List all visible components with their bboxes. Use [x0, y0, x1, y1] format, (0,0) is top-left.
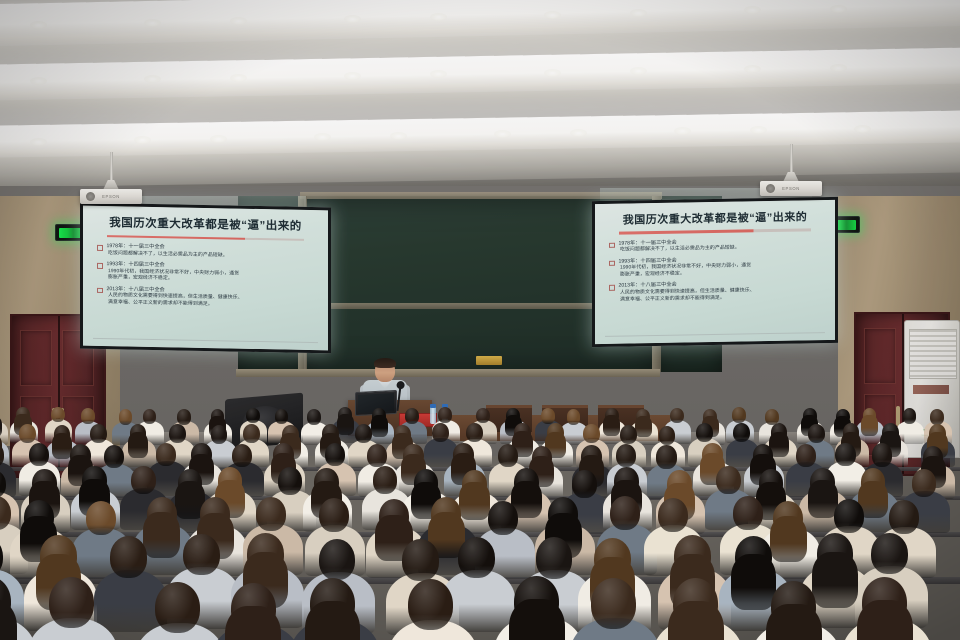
audience-member-head — [871, 533, 908, 574]
chalk-ledge — [236, 369, 660, 377]
audience-member-head — [476, 408, 490, 424]
audience-member-head — [49, 577, 94, 628]
audience-member-head — [110, 536, 147, 577]
audience-member-head — [610, 496, 640, 530]
audience-member-head — [232, 444, 252, 467]
slide-bullet: 2013年：十八届三中全会 人民的物质文化需要得到快速提高，但生活质量、健康快乐… — [97, 287, 314, 311]
audience-member-hair — [305, 601, 361, 640]
audience-member-head — [278, 467, 303, 495]
slide-title: 我国历次重大改革都是被“逼”出来的 — [603, 211, 827, 227]
slide-title-rule — [107, 235, 304, 241]
slide-bullet: 1978年：十一届三中全会 吃饭问题都解决不了，以生活必需品为主的产品短缺。 — [609, 238, 821, 255]
audience-member-head — [243, 424, 260, 443]
audience-member-head — [498, 444, 518, 467]
square-bullet-icon — [97, 263, 103, 269]
square-bullet-icon — [609, 242, 615, 248]
audience-member-hair — [337, 414, 354, 435]
blackboard-top-rail — [300, 192, 662, 199]
audience-member-hair — [731, 554, 776, 610]
audience-member-head — [319, 498, 349, 532]
audience-member-head — [659, 426, 676, 445]
ceiling-downlight — [30, 138, 47, 146]
audience-member-head — [572, 470, 597, 498]
ceiling-downlight — [630, 9, 647, 17]
projector-pole — [110, 152, 113, 182]
audience-member-head — [408, 579, 453, 630]
audience-member-hair — [812, 552, 857, 608]
ceiling-downlight — [390, 132, 407, 140]
audience-member-head — [834, 499, 864, 533]
audience-member-head — [438, 407, 452, 423]
bullet-head-text: 1978年：十一届三中全会 — [107, 244, 165, 251]
audience-member-head — [155, 582, 200, 633]
audience-member-head — [835, 443, 855, 466]
ceiling-downlight — [830, 5, 847, 13]
projection-screen-left: 我国历次重大改革都是被“逼”出来的 1978年：十一届三中全会 吃饭问题都解决不… — [80, 203, 331, 354]
lecture-hall-photo: 我国历次重大改革都是被“逼”出来的 1978年：十一届三中全会 吃饭问题都解决不… — [0, 0, 960, 640]
audience-member-head — [567, 409, 581, 425]
ceiling — [0, 0, 960, 200]
audience-member-head — [696, 423, 713, 442]
audience-member-head — [51, 407, 65, 423]
audience-member-head — [367, 444, 387, 467]
audience-member-head — [86, 501, 116, 535]
ceiling-downlight — [144, 19, 161, 27]
audience-member-head — [373, 466, 398, 494]
audience-member-head — [466, 423, 483, 442]
audience-member-head — [119, 409, 133, 425]
audience-member-hair — [509, 599, 565, 640]
slide-bullet: 1993年：十四届三中全会 1990年代初，我国经济状况非常不好，中央财力弱小，… — [97, 262, 314, 286]
ceiling-downlight — [570, 129, 587, 137]
audience-member-head — [733, 423, 750, 442]
square-bullet-icon — [97, 245, 103, 251]
slide-bottom-rule — [93, 338, 318, 343]
audience-member-hair — [766, 604, 822, 640]
audience-member-head — [325, 443, 345, 466]
slide-bullet: 2013年：十八届三中全会 人民的物质文化需要得到快速提高，但生活质量、健康快乐… — [609, 281, 821, 304]
audience — [0, 404, 960, 640]
audience-member-head — [796, 444, 816, 467]
projector-pole — [790, 144, 793, 174]
slide-body: 1978年：十一届三中全会 吃饭问题都解决不了，以生活必需品为主的产品短缺。 1… — [603, 238, 827, 304]
slide-bullet: 1993年：十四届三中全会 1990年代初，我国经济状况非常不好，中央财力弱小，… — [609, 256, 821, 279]
audience-member-head — [903, 408, 917, 424]
slide-bullet: 1978年：十一届三中全会 吃饭问题都解决不了，以生活必需品为主的产品短缺。 — [97, 244, 314, 261]
audience-member-head — [355, 424, 372, 443]
slide-title: 我国历次重大改革都是被“逼”出来的 — [91, 217, 320, 234]
audience-member-hair — [128, 432, 149, 458]
slide-bottom-rule — [605, 332, 825, 337]
audience-member-head — [183, 534, 220, 575]
slide-body: 1978年：十一届三中全会 吃饭问题都解决不了，以生活必需品为主的产品短缺。 1… — [91, 244, 320, 311]
ceiling-downlight — [230, 74, 247, 82]
audience-member-head — [591, 578, 636, 629]
audience-member-head — [656, 445, 676, 468]
chalk-tray-box — [476, 356, 502, 365]
audience-member-hair — [371, 415, 388, 436]
audience-member-head — [177, 409, 191, 425]
audience-member-head — [583, 424, 600, 443]
audience-member-hair — [668, 601, 724, 640]
slide-title-rule — [619, 228, 811, 234]
ceiling-downlight — [134, 136, 151, 144]
audience-member-hair — [603, 415, 620, 436]
audience-member-head — [670, 408, 684, 424]
audience-member-head — [536, 537, 573, 578]
audience-member-head — [246, 408, 260, 424]
audience-member-hair — [857, 600, 913, 640]
projector-brand-label: EPSON — [760, 186, 822, 191]
projector-brand-label: EPSON — [80, 194, 142, 199]
ceiling-downlight — [830, 64, 847, 72]
audience-member-head — [169, 424, 186, 443]
audience-member-head — [319, 539, 356, 580]
ceiling-downlight — [314, 133, 331, 141]
ceiling-downlight — [430, 13, 447, 21]
audience-member-head — [29, 443, 49, 466]
audience-member-hair — [459, 482, 490, 520]
audience-member-head — [275, 409, 289, 425]
audience-member-head — [143, 409, 157, 425]
audience-member-head — [19, 424, 36, 443]
audience-member-head — [256, 497, 286, 531]
projector-body: EPSON — [760, 181, 822, 196]
audience-member-head — [912, 469, 937, 497]
audience-member-head — [402, 539, 439, 580]
projector-body: EPSON — [80, 189, 142, 204]
audience-member-head — [432, 423, 449, 442]
presenter-hair — [374, 358, 396, 368]
audience-member-head — [104, 445, 124, 468]
ceiling-downlight — [210, 135, 227, 143]
audience-member-head — [716, 466, 741, 494]
ceiling-downlight — [854, 125, 871, 133]
audience-member-head — [808, 424, 825, 443]
audience-member-head — [156, 443, 176, 466]
audience-member-head — [872, 443, 892, 466]
audience-member-head — [732, 407, 746, 423]
audience-member-head — [541, 408, 555, 424]
ceiling-downlight — [744, 65, 761, 73]
projection-screen-right: 我国历次重大改革都是被“逼”出来的 1978年：十一届三中全会 吃饭问题都解决不… — [592, 197, 838, 347]
audience-member-head — [930, 409, 944, 425]
audience-member-head — [733, 496, 763, 530]
ceiling-downlight — [344, 15, 361, 23]
ac-label — [913, 385, 949, 394]
audience-member-head — [658, 498, 688, 532]
square-bullet-icon — [609, 285, 615, 291]
audience-member-head — [90, 424, 107, 443]
audience-member-head — [307, 409, 321, 425]
ceiling-downlight — [544, 69, 561, 77]
audience-member-head — [458, 537, 495, 578]
slide-content-right: 我国历次重大改革都是被“逼”出来的 1978年：十一届三中全会 吃饭问题都解决不… — [595, 200, 835, 344]
audience-member-head — [405, 408, 419, 424]
audience-member-head — [620, 425, 637, 444]
audience-member-hair — [143, 512, 180, 558]
ceiling-downlight — [544, 11, 561, 19]
audience-member-head — [81, 408, 95, 424]
ceiling-downlight — [630, 67, 647, 75]
audience-member-head — [131, 466, 156, 494]
audience-member-hair — [635, 416, 652, 437]
square-bullet-icon — [97, 288, 103, 294]
audience-member-head — [889, 500, 919, 534]
ac-grille-icon — [909, 329, 957, 379]
audience-member-head — [211, 425, 228, 444]
slide-content-left: 我国历次重大改革都是被“逼”出来的 1978年：十一届三中全会 吃饭问题都解决不… — [83, 206, 328, 351]
door-panel — [20, 330, 52, 386]
audience-member-head — [616, 444, 636, 467]
audience-member-hair — [861, 415, 878, 436]
audience-member-hair — [770, 516, 807, 562]
square-bullet-icon — [609, 260, 615, 266]
ceiling-downlight — [344, 72, 361, 80]
audience-member-head — [488, 501, 518, 535]
door-panel — [864, 328, 896, 384]
